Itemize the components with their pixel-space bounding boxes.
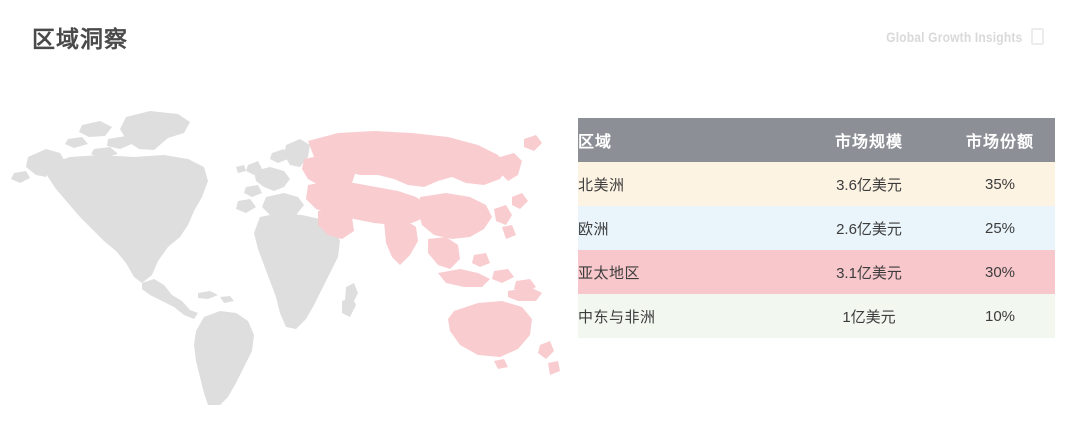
table-header-row: 区域 市场规模 市场份额 [578,118,1055,162]
column-header-market-size: 市场规模 [793,118,945,162]
cell-market-share: 35% [945,162,1055,206]
regional-insights-table: 区域 市场规模 市场份额 北美洲 3.6亿美元 35% 欧洲 2.6亿美元 25… [578,118,1055,338]
page-title: 区域洞察 [32,24,128,54]
cell-market-size: 3.1亿美元 [793,250,945,294]
table-row: 中东与非洲 1亿美元 10% [578,294,1055,338]
map-highlight-asia-pacific [302,131,560,375]
world-map [8,105,560,405]
cell-region: 北美洲 [578,162,793,206]
table-row: 亚太地区 3.1亿美元 30% [578,250,1055,294]
table-row: 北美洲 3.6亿美元 35% [578,162,1055,206]
watermark-label: Global Growth Insights [886,29,1022,45]
watermark: Global Growth Insights [864,28,1044,45]
slide-canvas: 区域洞察 Global Growth Insights [0,0,1080,423]
cell-market-size: 2.6亿美元 [793,206,945,250]
column-header-market-share: 市场份额 [945,118,1055,162]
cell-region: 中东与非洲 [578,294,793,338]
column-header-region: 区域 [578,118,793,162]
world-map-icon [8,105,560,405]
cell-market-size: 3.6亿美元 [793,162,945,206]
cell-region: 亚太地区 [578,250,793,294]
table-row: 欧洲 2.6亿美元 25% [578,206,1055,250]
cell-market-share: 25% [945,206,1055,250]
square-logo-mark-icon [1031,28,1044,45]
cell-market-share: 10% [945,294,1055,338]
map-base-landmasses [11,111,358,405]
cell-market-share: 30% [945,250,1055,294]
cell-region: 欧洲 [578,206,793,250]
table-body: 北美洲 3.6亿美元 35% 欧洲 2.6亿美元 25% 亚太地区 3.1亿美元… [578,162,1055,338]
cell-market-size: 1亿美元 [793,294,945,338]
table-header: 区域 市场规模 市场份额 [578,118,1055,162]
